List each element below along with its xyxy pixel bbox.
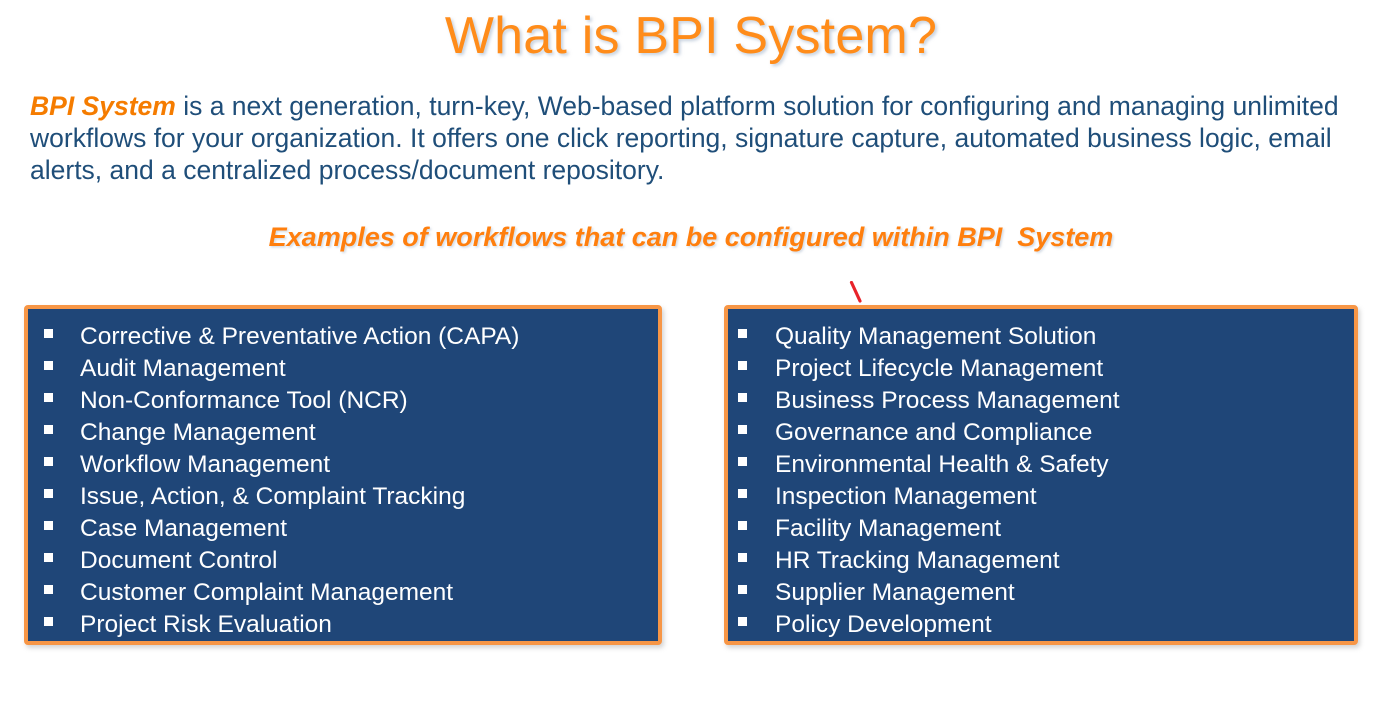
list-item[interactable]: Issue, Action, & Complaint Tracking [28,481,658,513]
list-item-label: Supplier Management [775,577,1015,609]
square-bullet-icon [44,361,53,370]
left-workflow-box: Corrective & Preventative Action (CAPA) … [24,305,662,645]
list-item[interactable]: Policy Development [728,609,1354,641]
list-item[interactable]: Facility Management [728,513,1354,545]
list-item[interactable]: Supplier Management [728,577,1354,609]
right-workflow-box: Quality Management Solution Project Life… [724,305,1358,645]
list-item[interactable]: Non-Conformance Tool (NCR) [28,385,658,417]
square-bullet-icon [738,457,747,466]
list-item-label: Workflow Management [80,449,330,481]
page-title: What is BPI System? [0,8,1382,65]
square-bullet-icon [44,425,53,434]
left-workflow-list: Corrective & Preventative Action (CAPA) … [28,321,658,641]
list-item-label: Audit Management [80,353,286,385]
square-bullet-icon [44,585,53,594]
list-item-label: Project Lifecycle Management [775,353,1103,385]
list-item[interactable]: Change Management [28,417,658,449]
list-item-label: HR Tracking Management [775,545,1060,577]
list-item[interactable]: Environmental Health & Safety [728,449,1354,481]
square-bullet-icon [738,329,747,338]
red-slash-annotation-icon [848,281,866,303]
square-bullet-icon [738,553,747,562]
square-bullet-icon [44,553,53,562]
square-bullet-icon [44,521,53,530]
list-item-label: Inspection Management [775,481,1037,513]
list-item[interactable]: Quality Management Solution [728,321,1354,353]
list-item[interactable]: Workflow Management [28,449,658,481]
list-item[interactable]: Document Control [28,545,658,577]
intro-paragraph: BPI System is a next generation, turn-ke… [30,90,1360,186]
list-item-label: Quality Management Solution [775,321,1096,353]
square-bullet-icon [738,425,747,434]
list-item-label: Case Management [80,513,287,545]
square-bullet-icon [738,489,747,498]
list-item-label: Corrective & Preventative Action (CAPA) [80,321,519,353]
list-item[interactable]: Audit Management [28,353,658,385]
square-bullet-icon [738,361,747,370]
square-bullet-icon [738,521,747,530]
list-item-label: Business Process Management [775,385,1120,417]
list-item[interactable]: Business Process Management [728,385,1354,417]
list-item[interactable]: Customer Complaint Management [28,577,658,609]
intro-body-text: is a next generation, turn-key, Web-base… [30,91,1339,185]
brand-name-emphasis: BPI System [30,91,176,121]
square-bullet-icon [44,393,53,402]
list-item-label: Issue, Action, & Complaint Tracking [80,481,465,513]
square-bullet-icon [44,329,53,338]
examples-subtitle: Examples of workflows that can be config… [0,222,1382,253]
square-bullet-icon [738,617,747,626]
list-item[interactable]: Inspection Management [728,481,1354,513]
list-item[interactable]: HR Tracking Management [728,545,1354,577]
list-item[interactable]: Project Lifecycle Management [728,353,1354,385]
list-item[interactable]: Case Management [28,513,658,545]
square-bullet-icon [738,585,747,594]
list-item[interactable]: Governance and Compliance [728,417,1354,449]
square-bullet-icon [44,457,53,466]
list-item-label: Non-Conformance Tool (NCR) [80,385,408,417]
list-item-label: Customer Complaint Management [80,577,453,609]
right-workflow-list: Quality Management Solution Project Life… [728,321,1354,641]
list-item-label: Governance and Compliance [775,417,1092,449]
square-bullet-icon [44,489,53,498]
square-bullet-icon [738,393,747,402]
list-item-label: Project Risk Evaluation [80,609,332,641]
list-item-label: Policy Development [775,609,992,641]
list-item-label: Facility Management [775,513,1001,545]
list-item-label: Change Management [80,417,316,449]
list-item-label: Environmental Health & Safety [775,449,1109,481]
square-bullet-icon [44,617,53,626]
list-item-label: Document Control [80,545,277,577]
list-item[interactable]: Project Risk Evaluation [28,609,658,641]
list-item[interactable]: Corrective & Preventative Action (CAPA) [28,321,658,353]
